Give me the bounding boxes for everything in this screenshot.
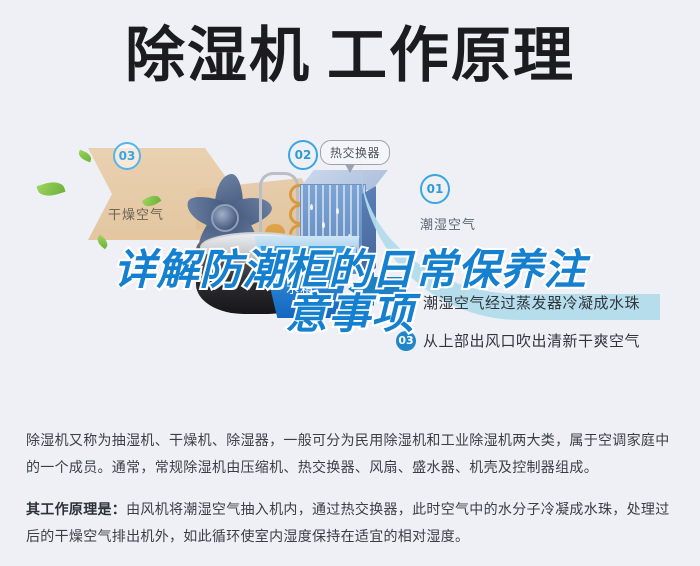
fan-hub	[211, 204, 239, 232]
list-item: 03 从上部出风口吹出清新干爽空气	[396, 330, 696, 351]
humid-air-badge: 01	[420, 174, 450, 204]
legend-text: 从上部出风口吹出清新干爽空气	[423, 330, 640, 351]
page-title: 除湿机工作原理	[0, 26, 700, 86]
legend-badge: 03	[396, 331, 416, 351]
dry-air-label: 干燥空气	[108, 204, 164, 223]
leaf-icon	[36, 178, 65, 199]
heat-exchanger-badge: 02	[288, 140, 318, 170]
legend-list: 02 潮湿空气经过蒸发器冷凝成水珠 03 从上部出风口吹出清新干爽空气	[396, 292, 696, 368]
legend-text: 潮湿空气经过蒸发器冷凝成水珠	[423, 292, 640, 313]
dry-air-badge: 03	[113, 142, 141, 170]
body-paragraph-2: 其工作原理是：由风机将潮湿空气抽入机内，通过热交换器，此时空气中的水分子冷凝成水…	[26, 497, 676, 552]
list-item: 02 潮湿空气经过蒸发器冷凝成水珠	[396, 292, 696, 313]
title-primary: 除湿机	[125, 26, 311, 86]
water-tank-label: 水箱	[286, 278, 314, 297]
humid-air-label: 潮湿空气	[420, 214, 476, 233]
infographic-page: 除湿机工作原理 03 干燥空气	[0, 0, 700, 566]
legend-badge: 02	[396, 293, 416, 313]
body-paragraph-1: 除湿机又称为抽湿机、干燥机、除湿器，一般可分为民用除湿机和工业除湿机两大类，属于…	[26, 428, 676, 483]
title-secondary: 工作原理	[327, 26, 575, 86]
body-paragraph-2-label: 其工作原理是：	[26, 502, 126, 518]
article-body: 除湿机又称为抽湿机、干燥机、除湿器，一般可分为民用除湿机和工业除湿机两大类，属于…	[26, 414, 676, 565]
humid-air-arrow-head	[348, 272, 374, 306]
